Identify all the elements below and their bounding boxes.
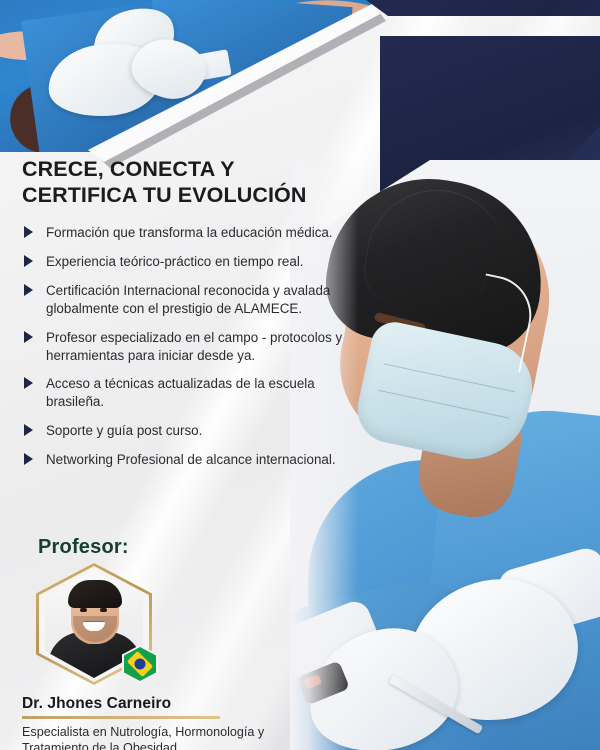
- portrait-eye-right: [100, 608, 107, 612]
- list-item-label: Formación que transforma la educación mé…: [46, 225, 333, 240]
- list-item: Soporte y guía post curso.: [22, 422, 352, 440]
- flag-field: [124, 647, 156, 681]
- name-underline: [22, 716, 220, 719]
- list-item: Experiencia teórico-práctico en tiempo r…: [22, 253, 352, 271]
- professor-role: Especialista en Nutrología, Hormonología…: [22, 724, 272, 750]
- triangle-right-icon: [24, 453, 33, 465]
- flag-globe: [135, 659, 146, 670]
- portrait-eye-left: [80, 608, 87, 612]
- benefits-list: Formación que transforma la educación mé…: [22, 224, 352, 468]
- professor-label: Profesor:: [38, 536, 272, 559]
- list-item: Acceso a técnicas actualizadas de la esc…: [22, 375, 352, 411]
- list-item-label: Acceso a técnicas actualizadas de la esc…: [46, 376, 315, 409]
- list-item-label: Profesor especializado en el campo - pro…: [46, 330, 342, 363]
- list-item-label: Networking Profesional de alcance intern…: [46, 452, 336, 467]
- professor-name: Dr. Jhones Carneiro: [22, 695, 272, 713]
- list-item-label: Certificación Internacional reconocida y…: [46, 283, 330, 316]
- triangle-right-icon: [24, 226, 33, 238]
- list-item: Formación que transforma la educación mé…: [22, 224, 352, 242]
- triangle-right-icon: [24, 377, 33, 389]
- promotional-poster: CRECE, CONECTA Y CERTIFICA TU EVOLUCIÓN …: [0, 0, 600, 750]
- triangle-right-icon: [24, 331, 33, 343]
- list-item: Networking Profesional de alcance intern…: [22, 451, 352, 469]
- list-item-label: Experiencia teórico-práctico en tiempo r…: [46, 254, 304, 269]
- poster-content: CRECE, CONECTA Y CERTIFICA TU EVOLUCIÓN …: [22, 156, 352, 480]
- page-title: CRECE, CONECTA Y CERTIFICA TU EVOLUCIÓN: [22, 156, 352, 208]
- professor-block: Profesor: Dr. Jhones Carneiro: [22, 536, 272, 750]
- avatar: [36, 563, 152, 685]
- list-item: Profesor especializado en el campo - pro…: [22, 329, 352, 365]
- list-item: Certificación Internacional reconocida y…: [22, 282, 352, 318]
- portrait-hair: [68, 580, 122, 608]
- triangle-right-icon: [24, 284, 33, 296]
- list-item-label: Soporte y guía post curso.: [46, 423, 202, 438]
- triangle-right-icon: [24, 424, 33, 436]
- triangle-right-icon: [24, 255, 33, 267]
